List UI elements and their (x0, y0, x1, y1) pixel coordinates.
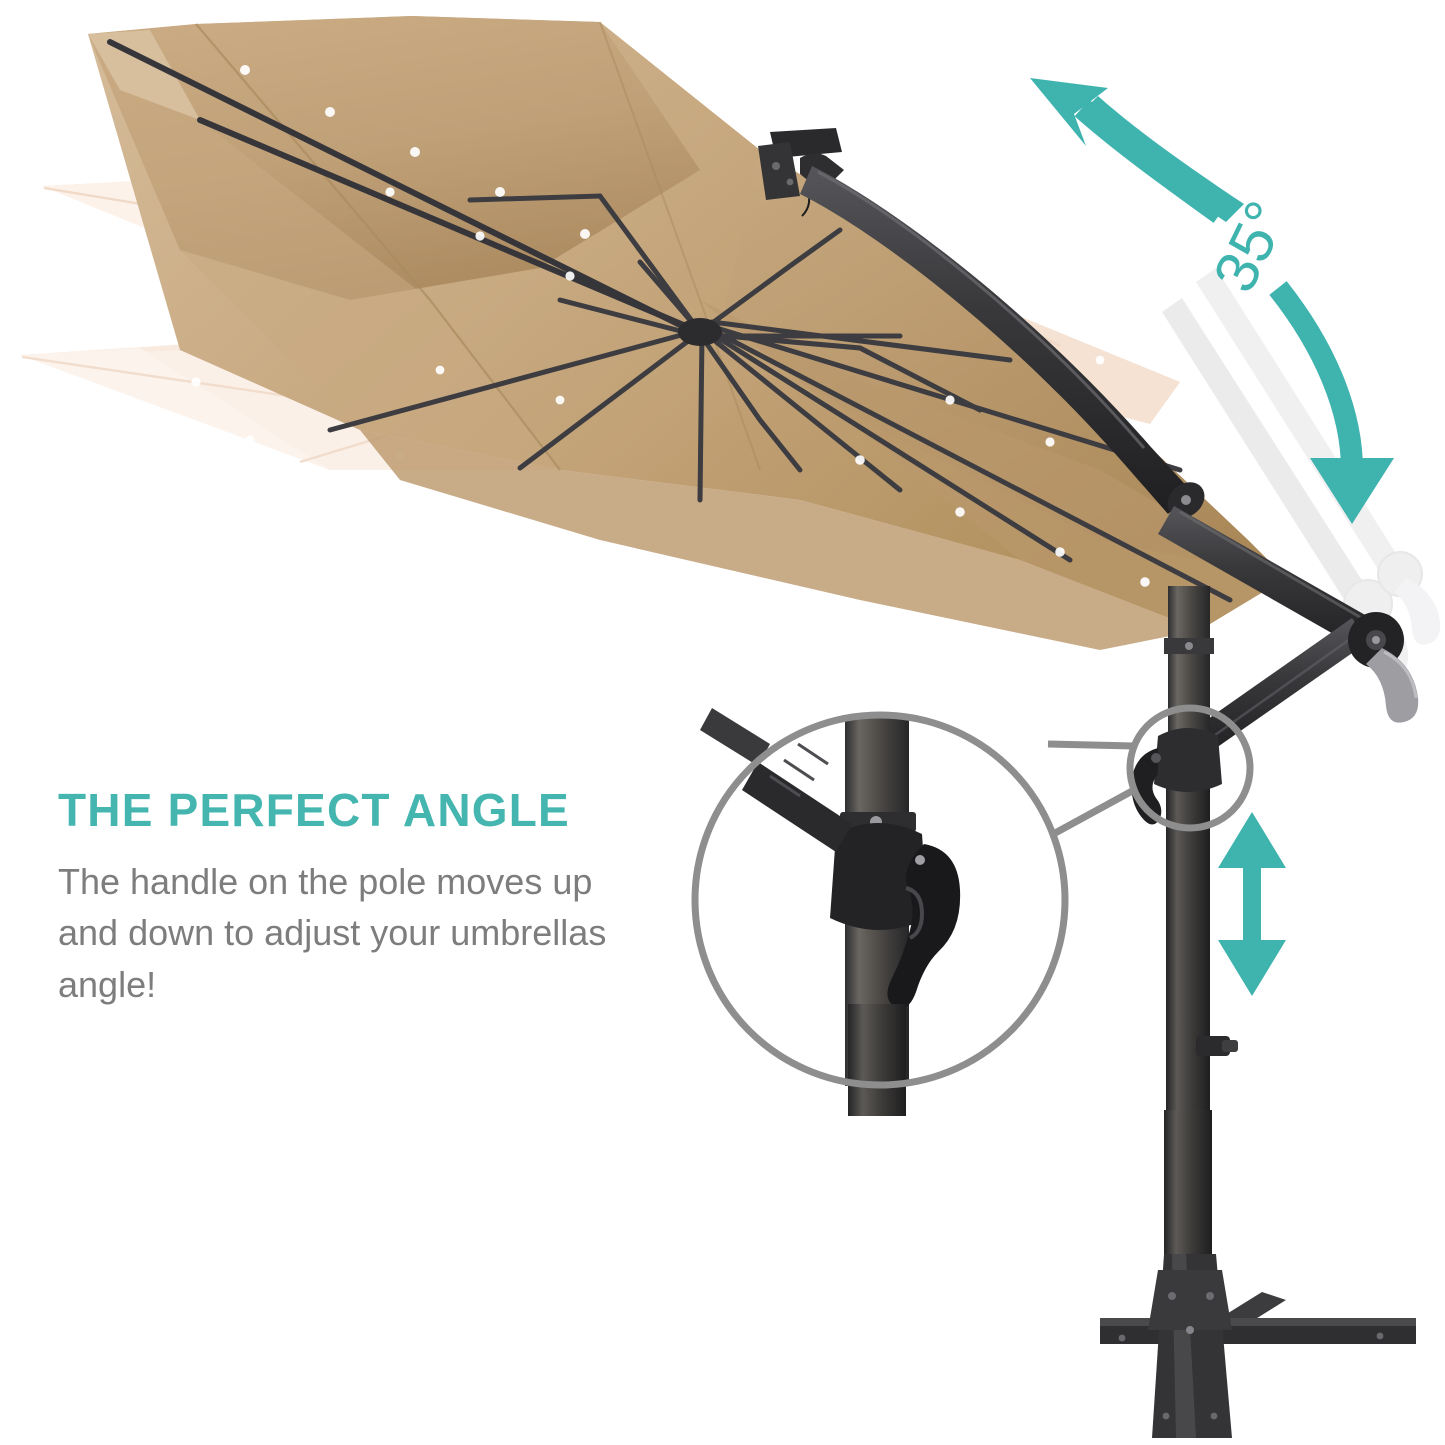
product-infographic: 35° THE PERFECT ANGLE The handle on the … (0, 0, 1445, 1445)
callout-text-block: THE PERFECT ANGLE The handle on the pole… (58, 786, 698, 1010)
tilt-arc-arrow (1030, 78, 1394, 524)
callout-body: The handle on the pole moves up and down… (58, 856, 658, 1009)
callout-headline: THE PERFECT ANGLE (58, 786, 698, 834)
height-adjust-arrow (1218, 812, 1286, 996)
